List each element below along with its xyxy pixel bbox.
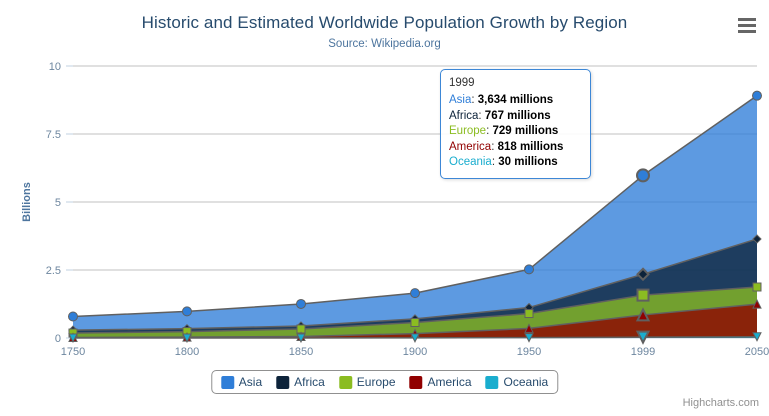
legend-item-label: Asia [239, 375, 262, 389]
legend-item-label: Oceania [504, 375, 549, 389]
x-axis-tick-label[interactable]: 1950 [517, 346, 541, 358]
data-point-asia-1900[interactable] [411, 289, 420, 298]
y-axis-tick-label: 2.5 [46, 265, 61, 277]
legend-item-asia[interactable]: Asia [221, 375, 262, 389]
x-axis-tick-label[interactable]: 1800 [175, 346, 199, 358]
legend-swatch-icon [410, 376, 423, 389]
data-point-asia-1950[interactable] [525, 265, 534, 274]
legend-item-label: America [428, 375, 472, 389]
legend-swatch-icon [221, 376, 234, 389]
y-axis-tick-label: 7.5 [46, 129, 61, 141]
legend-swatch-icon [339, 376, 352, 389]
x-axis-tick-label[interactable]: 1900 [403, 346, 427, 358]
x-axis-tick-label[interactable]: 1850 [289, 346, 313, 358]
data-point-asia-2050[interactable] [753, 91, 762, 100]
credits-label[interactable]: Highcharts.com [683, 397, 759, 409]
legend-item-label: Africa [294, 375, 325, 389]
highcharts-container: Historic and Estimated Worldwide Populat… [0, 0, 769, 416]
data-point-asia-1800[interactable] [183, 307, 192, 316]
chart-legend: AsiaAfricaEuropeAmericaOceania [211, 370, 558, 394]
legend-item-label: Europe [357, 375, 396, 389]
x-axis-tick-label[interactable]: 1999 [631, 346, 655, 358]
legend-swatch-icon [486, 376, 499, 389]
data-point-europe-1950[interactable] [525, 310, 533, 318]
y-axis-tick-label: 5 [55, 197, 61, 209]
data-point-oceania-1999[interactable] [638, 332, 649, 343]
data-point-europe-1900[interactable] [411, 318, 419, 326]
plot-area: 02.557.510Billions1750180018501900195019… [0, 0, 769, 416]
y-axis-tick-label: 0 [55, 333, 61, 345]
y-axis-title: Billions [21, 182, 33, 222]
legend-item-africa[interactable]: Africa [276, 375, 325, 389]
x-axis-tick-label[interactable]: 2050 [745, 346, 769, 358]
legend-item-america[interactable]: America [410, 375, 472, 389]
data-point-asia-1999[interactable] [637, 169, 649, 181]
data-point-asia-1850[interactable] [297, 299, 306, 308]
data-point-asia-1750[interactable] [69, 312, 78, 321]
x-axis-tick-label[interactable]: 1750 [61, 346, 85, 358]
legend-item-oceania[interactable]: Oceania [486, 375, 549, 389]
legend-swatch-icon [276, 376, 289, 389]
data-point-europe-2050[interactable] [753, 283, 761, 291]
legend-item-europe[interactable]: Europe [339, 375, 396, 389]
y-axis-tick-label: 10 [49, 61, 61, 73]
data-point-europe-1999[interactable] [638, 290, 649, 301]
